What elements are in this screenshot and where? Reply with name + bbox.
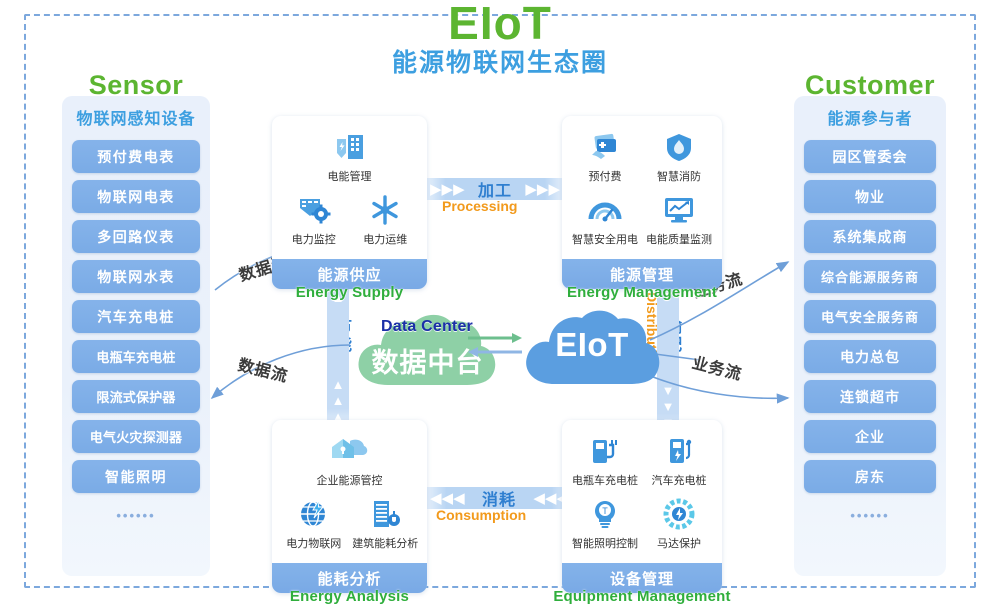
sidebar-item-iot-water-meter[interactable]: 物联网水表	[72, 260, 200, 293]
card-energy-analysis-title-en: Energy Analysis	[290, 588, 409, 605]
bidirectional-arrows	[466, 330, 524, 364]
page-title: EIoT 能源物联网生态圈	[0, 0, 1000, 78]
sidebar-item-multiloop-meter[interactable]: 多回路仪表	[72, 220, 200, 253]
building-meter-icon	[278, 127, 421, 167]
title-cn: 能源物联网生态圈	[0, 48, 1000, 78]
card-item-motor-protection[interactable]: 马达保护	[642, 494, 716, 551]
card-item-power-ops[interactable]: 电力运维	[350, 190, 422, 247]
sidebar-customer-heading-cn: 能源参与者	[827, 105, 912, 129]
sidebar-sensor-more: ••••••	[116, 508, 155, 523]
card-equipment-management-title-en: Equipment Management	[553, 588, 730, 605]
building-plug-icon	[350, 494, 422, 534]
shield-fire-icon	[642, 127, 716, 167]
sidebar-customer-list: 园区管委会 物业 系统集成商 综合能源服务商 电气安全服务商 电力总包 连锁超市…	[794, 140, 946, 523]
flow-label-business-flow-bottom: 业务流	[690, 349, 745, 385]
band-processing-label-cn: 加工	[478, 177, 512, 201]
card-energy-supply[interactable]: 电能管理 电力监控	[272, 116, 427, 289]
card-item-car-charger[interactable]: 汽车充电桩	[642, 431, 716, 488]
card-item-label: 企业能源管控	[278, 472, 421, 488]
sidebar-item-integrated-energy-provider[interactable]: 综合能源服务商	[804, 260, 936, 293]
chevron-up-group-lower: ▲▲▲	[327, 377, 349, 424]
card-item-smart-fire[interactable]: 智慧消防	[642, 127, 716, 184]
prepaid-card-icon	[568, 127, 642, 167]
card-energy-management-title-en: Energy Management	[567, 284, 717, 301]
card-item-label: 智能照明控制	[568, 535, 642, 551]
sidebar-item-park-committee[interactable]: 园区管委会	[804, 140, 936, 173]
card-item-label: 建筑能耗分析	[350, 535, 422, 551]
card-item-label: 电能管理	[278, 168, 421, 184]
card-item-label: 电能质量监测	[642, 231, 716, 247]
sidebar-item-landlord[interactable]: 房东	[804, 460, 936, 493]
car-charger-icon	[642, 431, 716, 471]
band-consumption-label-cn: 消耗	[482, 486, 516, 510]
card-equipment-management[interactable]: 电瓶车充电桩 汽车充电桩	[562, 420, 722, 593]
sidebar-customer: Customer 能源参与者 园区管委会 物业 系统集成商 综合能源服务商 电气…	[794, 96, 946, 576]
sidebar-item-smart-lighting[interactable]: 智能照明	[72, 460, 200, 493]
sidebar-customer-more: ••••••	[850, 508, 889, 523]
card-equipment-management-body: 电瓶车充电桩 汽车充电桩	[562, 420, 722, 563]
card-item-label: 马达保护	[642, 535, 716, 551]
cloud-eiot-label: EIoT	[518, 326, 666, 364]
card-item-building-energy-analysis[interactable]: 建筑能耗分析	[350, 494, 422, 551]
card-item-label: 电力物联网	[278, 535, 350, 551]
card-item-label: 电力运维	[350, 231, 422, 247]
svg-text:T: T	[602, 506, 608, 516]
sidebar-sensor-heading-cn: 物联网感知设备	[76, 105, 195, 129]
globe-bolt-icon	[278, 494, 350, 534]
sidebar-sensor: Sensor 物联网感知设备 预付费电表 物联网电表 多回路仪表 物联网水表 汽…	[62, 96, 210, 576]
card-item-power-iot[interactable]: 电力物联网	[278, 494, 350, 551]
title-en: EIoT	[0, 0, 1000, 46]
chevron-right-group-left: ▶▶▶	[430, 178, 465, 200]
sidebar-item-prepaid-meter[interactable]: 预付费电表	[72, 140, 200, 173]
card-energy-management-body: 预付费 智慧消防	[562, 116, 722, 259]
sidebar-item-power-contractor[interactable]: 电力总包	[804, 340, 936, 373]
sidebar-item-electrical-safety-provider[interactable]: 电气安全服务商	[804, 300, 936, 333]
cloud-eiot[interactable]: EIoT	[518, 300, 666, 397]
chevron-right-group-right: ▶▶▶	[525, 178, 560, 200]
card-item-label: 电瓶车充电桩	[568, 472, 642, 488]
card-item-prepaid[interactable]: 预付费	[568, 127, 642, 184]
smart-bulb-icon: T	[568, 494, 642, 534]
chevron-left-group-left: ◀◀◀	[430, 487, 465, 509]
card-item-ebike-charger[interactable]: 电瓶车充电桩	[568, 431, 642, 488]
card-energy-supply-title-en: Energy Supply	[296, 284, 404, 301]
card-item-label: 智慧消防	[642, 168, 716, 184]
card-item-label: 预付费	[568, 168, 642, 184]
sidebar-item-car-charger[interactable]: 汽车充电桩	[72, 300, 200, 333]
sidebar-item-property[interactable]: 物业	[804, 180, 936, 213]
card-energy-management[interactable]: 预付费 智慧消防	[562, 116, 722, 289]
flow-label-data-flow-bottom: 数据流	[236, 351, 291, 387]
sidebar-item-iot-meter[interactable]: 物联网电表	[72, 180, 200, 213]
sidebar-item-current-limit-protector[interactable]: 限流式保护器	[72, 380, 200, 413]
band-consumption: ◀◀◀ 消耗 ◀◀◀ Consumption	[424, 487, 574, 509]
band-processing: ▶▶▶ 加工 ▶▶▶ Processing	[424, 178, 566, 200]
ev-charger-icon	[568, 431, 642, 471]
card-item-enterprise-energy-control[interactable]: 企业能源管控	[278, 431, 421, 488]
sidebar-item-chain-supermarket[interactable]: 连锁超市	[804, 380, 936, 413]
card-item-power-monitoring[interactable]: 电力监控	[278, 190, 350, 247]
card-item-power-quality[interactable]: 电能质量监测	[642, 190, 716, 247]
sidebar-item-enterprise[interactable]: 企业	[804, 420, 936, 453]
card-item-label: 电力监控	[278, 231, 350, 247]
card-energy-analysis-body: 企业能源管控 电力物联网	[272, 420, 427, 563]
monitor-chart-icon	[642, 190, 716, 230]
motor-protection-icon	[642, 494, 716, 534]
card-item-label: 汽车充电桩	[642, 472, 716, 488]
sidebar-sensor-list: 预付费电表 物联网电表 多回路仪表 物联网水表 汽车充电桩 电瓶车充电桩 限流式…	[62, 140, 210, 523]
gauge-icon	[568, 190, 642, 230]
card-energy-analysis[interactable]: 企业能源管控 电力物联网	[272, 420, 427, 593]
gears-monitor-icon	[278, 190, 350, 230]
snowflake-service-icon	[350, 190, 422, 230]
home-cloud-icon	[278, 431, 421, 471]
card-item-label: 智慧安全用电	[568, 231, 642, 247]
sidebar-item-ebike-charger[interactable]: 电瓶车充电桩	[72, 340, 200, 373]
card-item-power-management[interactable]: 电能管理	[278, 127, 421, 184]
card-energy-supply-body: 电能管理 电力监控	[272, 116, 427, 259]
sidebar-item-electrical-fire-detector[interactable]: 电气火灾探测器	[72, 420, 200, 453]
card-item-smart-lighting-control[interactable]: T 智能照明控制	[568, 494, 642, 551]
sidebar-item-system-integrator[interactable]: 系统集成商	[804, 220, 936, 253]
diagram-canvas: EIoT 能源物联网生态圈 数据流 数据流 业务流 业务流 Sensor 物联网…	[0, 0, 1000, 602]
card-item-safe-electricity[interactable]: 智慧安全用电	[568, 190, 642, 247]
